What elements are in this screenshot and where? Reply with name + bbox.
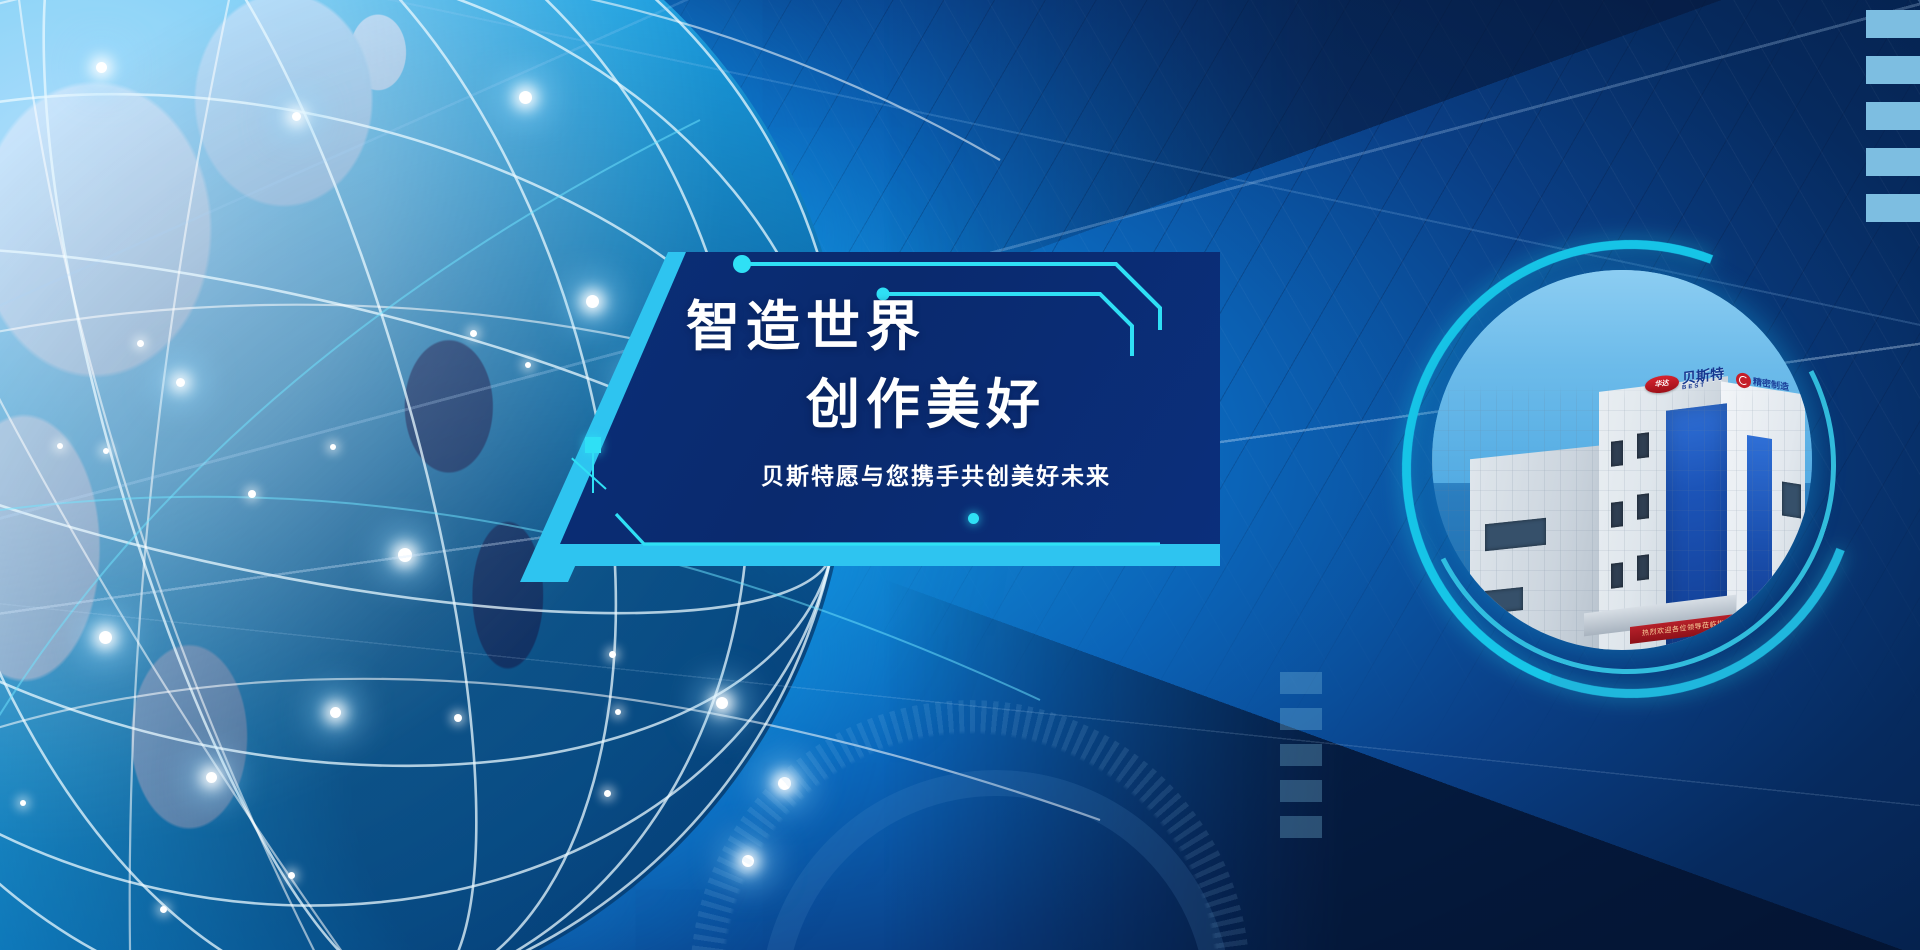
dash-bar bbox=[1280, 780, 1322, 802]
dash-bar bbox=[1866, 148, 1920, 176]
dash-bar bbox=[1866, 194, 1920, 222]
building-photo: 华达 贝斯特 BEST 精密制造 热烈欢迎各位领导莅临指导 bbox=[1432, 270, 1812, 650]
headline-panel: 智造世界 创作美好 贝斯特愿与您携手共创美好未来 bbox=[520, 252, 1220, 582]
secondary-logo-icon bbox=[1736, 372, 1751, 389]
photo-window bbox=[1611, 440, 1623, 466]
dash-bar bbox=[1866, 56, 1920, 84]
accent-dot bbox=[968, 513, 979, 524]
accent-marker-stem bbox=[592, 453, 594, 493]
dash-bar bbox=[1280, 672, 1322, 694]
dash-bar bbox=[1866, 10, 1920, 38]
photo-window bbox=[1611, 501, 1623, 527]
headline-line-1: 智造世界 bbox=[686, 300, 926, 354]
photo-window bbox=[1637, 493, 1649, 519]
brand-badge-icon: 华达 bbox=[1645, 373, 1679, 394]
headline-line-2: 创作美好 bbox=[806, 378, 1046, 432]
headline-subtitle: 贝斯特愿与您携手共创美好未来 bbox=[686, 466, 1186, 489]
photo-window bbox=[1611, 562, 1623, 588]
photo-window bbox=[1637, 433, 1649, 459]
building-photo-medallion: 华达 贝斯特 BEST 精密制造 热烈欢迎各位领导莅临指导 bbox=[1432, 270, 1812, 650]
right-edge-dash-bars bbox=[1866, 10, 1920, 240]
dash-bar bbox=[1280, 816, 1322, 838]
banner-stage: 华达 贝斯特 BEST 精密制造 热烈欢迎各位领导莅临指导 bbox=[0, 0, 1920, 950]
dash-bar bbox=[1280, 744, 1322, 766]
lower-dash-bars bbox=[1280, 672, 1322, 852]
panel-text-group: 智造世界 创作美好 贝斯特愿与您携手共创美好未来 bbox=[520, 252, 1220, 582]
accent-square-marker bbox=[585, 437, 601, 453]
dash-bar bbox=[1866, 102, 1920, 130]
photo-window-strip bbox=[1485, 587, 1523, 614]
photo-window bbox=[1782, 481, 1801, 518]
photo-window bbox=[1637, 554, 1649, 580]
roof-sign-badge-text: 华达 bbox=[1654, 379, 1669, 388]
dash-bar bbox=[1280, 708, 1322, 730]
